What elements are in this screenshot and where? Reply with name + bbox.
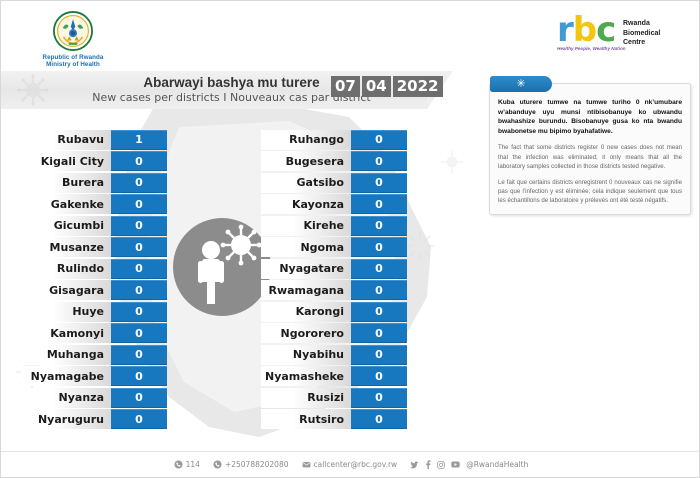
district-case-count: 0	[351, 388, 407, 408]
district-case-count: 0	[111, 151, 167, 171]
gov-logo-line2: Ministry of Health	[37, 61, 109, 68]
district-name: Gakenke	[21, 194, 111, 214]
district-row: Nyamagabe0	[21, 366, 167, 386]
info-text-english: The fact that some districts register 0 …	[498, 143, 682, 171]
district-case-count: 0	[111, 323, 167, 343]
rbc-name-line1: Rwanda	[623, 19, 660, 29]
district-row: Muhanga0	[21, 345, 167, 365]
district-name: Nyagatare	[261, 259, 351, 279]
district-row: Gicumbi0	[21, 216, 167, 236]
district-name: Kamonyi	[21, 323, 111, 343]
district-case-count: 0	[111, 216, 167, 236]
footer-socials: @RwandaHealth	[410, 460, 528, 469]
rwanda-coat-of-arms-icon	[51, 9, 95, 53]
footer-social-handle: @RwandaHealth	[466, 460, 528, 469]
district-name: Kayonza	[261, 194, 351, 214]
district-row: Kirehe0	[261, 216, 407, 236]
district-row: Gatsibo0	[261, 173, 407, 193]
rbc-name-line3: Centre	[623, 38, 660, 48]
district-case-count: 0	[351, 237, 407, 257]
poster-root: Republic of Rwanda Ministry of Health rb…	[0, 0, 700, 478]
footer-hotline-short-text: 114	[186, 460, 200, 469]
district-case-count: 0	[351, 366, 407, 386]
district-case-count: 0	[351, 302, 407, 322]
district-case-count: 0	[351, 194, 407, 214]
district-row: Huye0	[21, 302, 167, 322]
district-name: Musanze	[21, 237, 111, 257]
district-row: Kayonza0	[261, 194, 407, 214]
virus-icon	[15, 74, 51, 106]
district-name: Rubavu	[21, 130, 111, 150]
district-case-count: 0	[111, 366, 167, 386]
virus-watermark-upper-right	[439, 149, 465, 175]
district-row: Rusizi0	[261, 388, 407, 408]
date-month: 04	[362, 76, 391, 97]
district-row: Gakenke0	[21, 194, 167, 214]
asterisk-icon: ✳	[516, 79, 525, 90]
district-case-count: 0	[111, 409, 167, 429]
district-name: Burera	[21, 173, 111, 193]
district-case-count: 0	[351, 280, 407, 300]
district-row: Nyanza0	[21, 388, 167, 408]
district-name: Ngororero	[261, 323, 351, 343]
district-row: Rulindo0	[21, 259, 167, 279]
district-case-count: 0	[351, 345, 407, 365]
district-case-count: 0	[111, 302, 167, 322]
district-case-count: 0	[351, 151, 407, 171]
district-list-right: Ruhango0Bugesera0Gatsibo0Kayonza0Kirehe0…	[261, 130, 407, 431]
rbc-letter-b: b	[573, 10, 596, 50]
footer-email-text: callcenter@rbc.gov.rw	[314, 460, 398, 469]
district-name: Rutsiro	[261, 409, 351, 429]
district-row: Nyamasheke0	[261, 366, 407, 386]
district-row: Kigali City0	[21, 151, 167, 171]
district-name: Karongi	[261, 302, 351, 322]
district-name: Nyabihu	[261, 345, 351, 365]
district-name: Ngoma	[261, 237, 351, 257]
rbc-letter-r: r	[557, 10, 573, 50]
rbc-logo-mark: rbc Healthy People, Wealthy Nation	[557, 15, 619, 51]
district-row: Gisagara0	[21, 280, 167, 300]
rbc-logo-tagline: Healthy People, Wealthy Nation	[557, 46, 619, 51]
government-logo: Republic of Rwanda Ministry of Health	[37, 9, 109, 68]
district-name: Gisagara	[21, 280, 111, 300]
district-row: Rutsiro0	[261, 409, 407, 429]
district-row: Nyagatare0	[261, 259, 407, 279]
envelope-icon	[302, 460, 311, 469]
district-row: Ngororero0	[261, 323, 407, 343]
district-case-count: 0	[351, 216, 407, 236]
district-name: Kigali City	[21, 151, 111, 171]
district-list-left: Rubavu1Kigali City0Burera0Gakenke0Gicumb…	[21, 130, 167, 431]
info-panel: ✳ Kuba uturere tumwe na tumwe turiho 0 n…	[489, 83, 691, 215]
district-name: Nyamagabe	[21, 366, 111, 386]
district-row: Nyabihu0	[261, 345, 407, 365]
facebook-icon[interactable]	[425, 460, 431, 469]
info-panel-tab: ✳	[490, 76, 552, 92]
district-row: Musanze0	[21, 237, 167, 257]
district-case-count: 0	[111, 237, 167, 257]
district-case-count: 0	[111, 388, 167, 408]
info-text-french: Le fait que certains districts enregistr…	[498, 178, 682, 206]
rbc-letter-c: c	[596, 10, 615, 50]
date-year: 2022	[393, 76, 443, 97]
district-case-count: 0	[351, 409, 407, 429]
district-name: Nyaruguru	[21, 409, 111, 429]
district-name: Gicumbi	[21, 216, 111, 236]
virus-watermark-right	[403, 229, 437, 263]
district-row: Rubavu1	[21, 130, 167, 150]
district-name: Rusizi	[261, 388, 351, 408]
district-case-count: 0	[111, 259, 167, 279]
district-row: Ruhango0	[261, 130, 407, 150]
district-row: Burera0	[21, 173, 167, 193]
district-name: Huye	[21, 302, 111, 322]
district-case-count: 0	[351, 259, 407, 279]
district-name: Muhanga	[21, 345, 111, 365]
rbc-logo-name: Rwanda Biomedical Centre	[623, 19, 660, 48]
district-name: Nyanza	[21, 388, 111, 408]
twitter-icon[interactable]	[410, 461, 419, 469]
report-date: 07 04 2022	[331, 76, 443, 97]
footer-hotline-full[interactable]: +250788202080	[213, 460, 289, 469]
district-case-count: 0	[111, 173, 167, 193]
district-row: Kamonyi0	[21, 323, 167, 343]
district-row: Nyaruguru0	[21, 409, 167, 429]
rbc-logo: rbc Healthy People, Wealthy Nation Rwand…	[557, 15, 660, 51]
district-row: Rwamagana0	[261, 280, 407, 300]
gov-logo-line1: Republic of Rwanda	[37, 54, 109, 61]
district-case-count: 0	[111, 345, 167, 365]
district-row: Ngoma0	[261, 237, 407, 257]
district-name: Gatsibo	[261, 173, 351, 193]
footer-email[interactable]: callcenter@rbc.gov.rw	[302, 460, 398, 469]
district-row: Karongi0	[261, 302, 407, 322]
district-case-count: 0	[111, 280, 167, 300]
phone-icon	[213, 460, 222, 469]
info-text-kinyarwanda: Kuba uturere tumwe na tumwe turiho 0 nk’…	[498, 98, 682, 136]
district-name: Rwamagana	[261, 280, 351, 300]
date-day: 07	[331, 76, 360, 97]
district-case-count: 0	[351, 173, 407, 193]
rbc-name-line2: Biomedical	[623, 29, 660, 39]
person-with-virus-icon	[173, 218, 271, 316]
district-case-count: 0	[351, 323, 407, 343]
district-case-count: 1	[111, 130, 167, 150]
district-name: Kirehe	[261, 216, 351, 236]
district-name: Nyamasheke	[261, 366, 351, 386]
instagram-icon[interactable]	[437, 461, 445, 469]
phone-icon	[174, 460, 183, 469]
footer-hotline-short[interactable]: 114	[174, 460, 200, 469]
district-name: Rulindo	[21, 259, 111, 279]
district-case-count: 0	[351, 130, 407, 150]
footer-hotline-full-text: +250788202080	[225, 460, 289, 469]
rbc-logo-letters: rbc	[557, 15, 619, 45]
youtube-icon[interactable]	[451, 461, 460, 468]
district-name: Ruhango	[261, 130, 351, 150]
footer-contact-bar: 114 +250788202080 callcenter@rbc.gov.rw	[1, 451, 700, 477]
district-row: Bugesera0	[261, 151, 407, 171]
district-name: Bugesera	[261, 151, 351, 171]
district-case-count: 0	[111, 194, 167, 214]
